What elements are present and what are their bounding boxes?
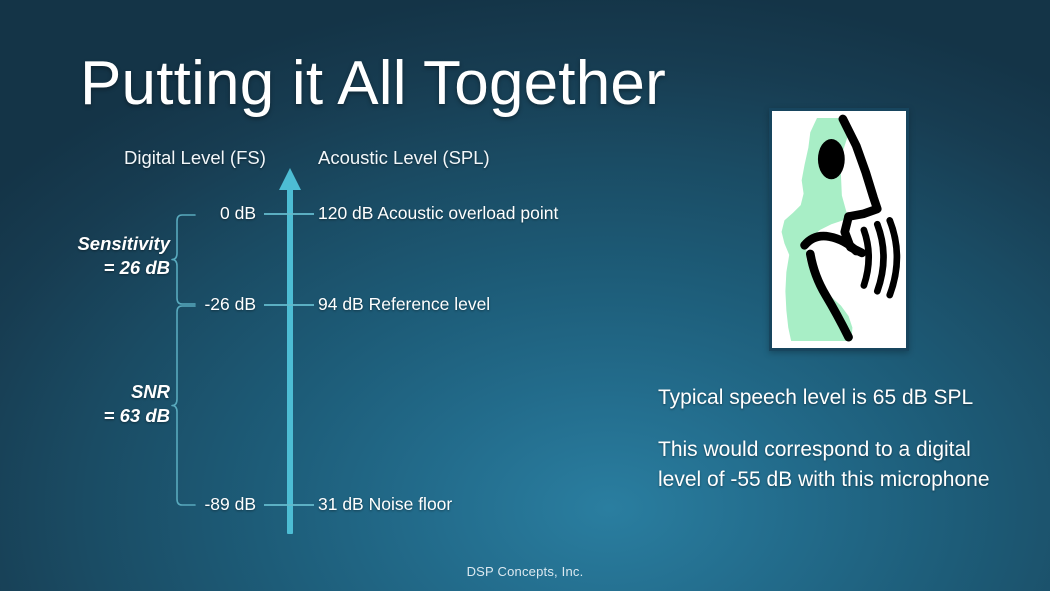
column-header-acoustic-level: Acoustic Level (SPL) — [318, 147, 490, 169]
vertical-axis — [287, 186, 293, 534]
note-digital-level-line2: level of -55 dB with this microphone — [658, 465, 1030, 495]
tick-mark — [264, 213, 314, 215]
digital-level-value: -26 dB — [204, 294, 256, 315]
brace-label-line1: Sensitivity — [77, 232, 170, 256]
brace-label-line1: SNR — [104, 380, 170, 404]
acoustic-level-value: 94 dB Reference level — [318, 294, 490, 315]
tick-mark — [264, 304, 314, 306]
acoustic-level-value: 31 dB Noise floor — [318, 494, 452, 515]
page-title: Putting it All Together — [80, 48, 666, 119]
brace-label-line2: = 63 dB — [104, 404, 170, 428]
acoustic-level-value: 120 dB Acoustic overload point — [318, 203, 558, 224]
slide-footer: DSP Concepts, Inc. — [0, 564, 1050, 579]
digital-level-value: 0 dB — [220, 203, 256, 224]
tick-mark — [264, 504, 314, 506]
digital-level-value: -89 dB — [204, 494, 256, 515]
brace-sensitivity — [171, 214, 197, 305]
brace-label-sensitivity: Sensitivity = 26 dB — [77, 232, 170, 279]
brace-label-snr: SNR = 63 dB — [104, 380, 170, 427]
speaking-head-icon — [772, 111, 906, 348]
note-speech-level: Typical speech level is 65 dB SPL — [658, 383, 1038, 413]
slide-canvas: Putting it All Together Digital Level (F… — [0, 0, 1050, 591]
note-digital-level: This would correspond to a digital level… — [658, 435, 1030, 496]
note-digital-level-line1: This would correspond to a digital — [658, 435, 1030, 465]
brace-snr — [171, 305, 197, 506]
column-header-digital-level: Digital Level (FS) — [124, 147, 266, 169]
speaking-head-image — [769, 108, 909, 351]
brace-label-line2: = 26 dB — [77, 256, 170, 280]
